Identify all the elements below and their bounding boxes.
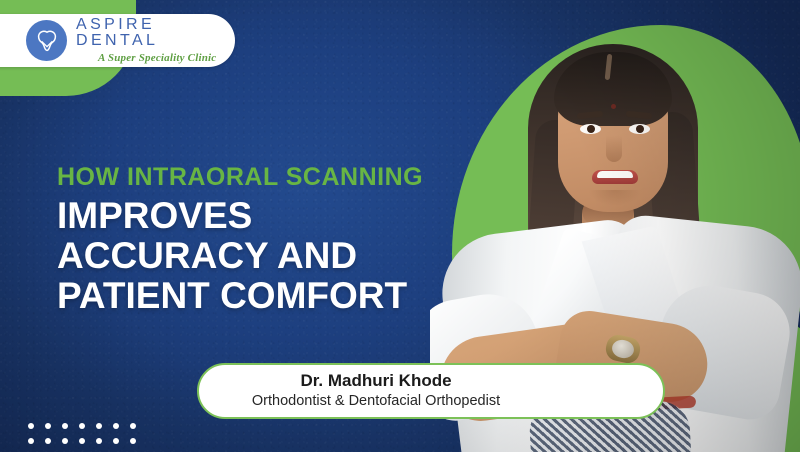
headline-line-3: PATIENT COMFORT [57,276,407,316]
decor-dot [62,438,68,444]
pupil-left [587,125,595,133]
decor-dot [62,423,68,429]
brand-name: ASPIRE DENTAL [76,17,235,49]
decor-dot [45,438,51,444]
doctor-name-card: Dr. Madhuri Khode Orthodontist & Dentofa… [197,363,665,419]
teeth [597,171,633,178]
headline-line-2: ACCURACY AND [57,236,407,276]
decor-dot [79,423,85,429]
decor-dot [79,438,85,444]
dot-grid-decoration [28,423,147,452]
promo-banner: ASPIRE DENTAL A Super Speciality Clinic … [0,0,800,452]
doctor-role: Orthodontist & Dentofacial Orthopedist [252,392,500,411]
decor-dot [130,438,136,444]
decor-dot [113,423,119,429]
decor-dot [45,423,51,429]
decor-dot [113,438,119,444]
nose [606,136,622,162]
tooth-heart-icon [26,20,67,61]
decor-dot [28,438,34,444]
decor-dot [96,423,102,429]
headline-line-1: IMPROVES [57,196,407,236]
decor-dot [96,438,102,444]
bindi [611,104,616,109]
decor-dot [28,423,34,429]
headline-kicker: HOW INTRAORAL SCANNING [57,163,423,192]
doctor-name: Dr. Madhuri Khode [300,371,451,391]
pupil-right [636,125,644,133]
brand-tagline: A Super Speciality Clinic [98,53,235,64]
brand-logo[interactable]: ASPIRE DENTAL A Super Speciality Clinic [0,14,235,67]
page-title: IMPROVES ACCURACY AND PATIENT COMFORT [57,196,407,316]
chin-shadow [588,190,642,206]
decor-dot [130,423,136,429]
